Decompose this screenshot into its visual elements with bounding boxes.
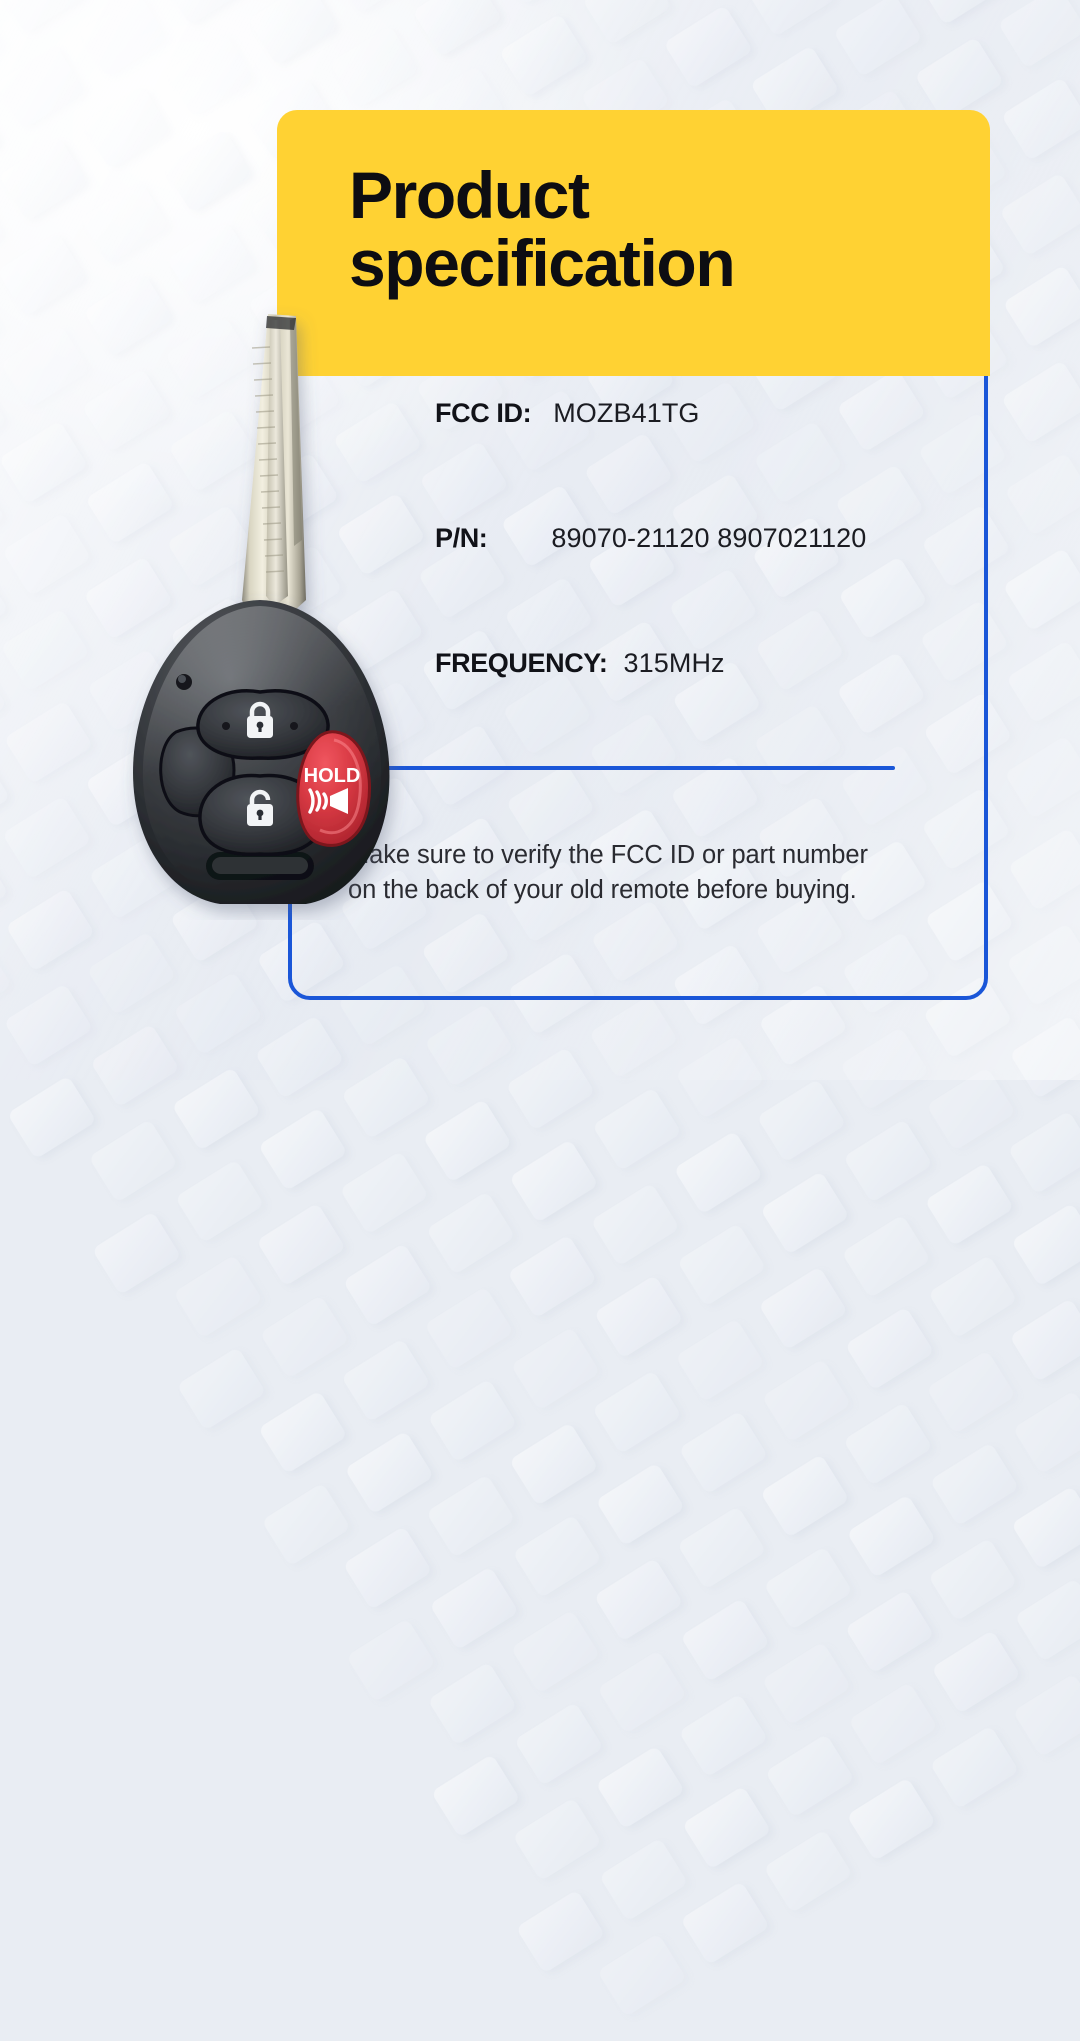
- key-fob-body: HOLD: [133, 600, 389, 904]
- spec-row-frequency: FREQUENCY: 315MHz: [435, 648, 975, 773]
- panic-button[interactable]: HOLD: [298, 732, 370, 846]
- spec-value-frequency: 315MHz: [624, 648, 725, 679]
- section-divider: [362, 766, 895, 770]
- spec-row-fcc-id: FCC ID: MOZB41TG: [435, 398, 975, 523]
- product-photo-key-remote: HOLD: [110, 300, 410, 920]
- keyring-slot: [206, 852, 314, 880]
- spec-label-part-number: P/N:: [435, 523, 487, 554]
- spec-label-frequency: FREQUENCY:: [435, 648, 608, 679]
- spec-value-part-number: 89070-21120 8907021120: [551, 523, 866, 554]
- key-blade: [242, 314, 306, 622]
- spec-value-fcc-id: MOZB41TG: [553, 398, 699, 429]
- footer-note: Make sure to verify the FCC ID or part n…: [348, 838, 948, 908]
- specification-list: FCC ID: MOZB41TG P/N: 89070-21120 890702…: [435, 398, 975, 773]
- page-title: Product specification: [349, 162, 949, 298]
- spec-label-fcc-id: FCC ID:: [435, 398, 531, 429]
- panic-button-label: HOLD: [304, 765, 361, 787]
- spec-row-part-number: P/N: 89070-21120 8907021120: [435, 523, 975, 648]
